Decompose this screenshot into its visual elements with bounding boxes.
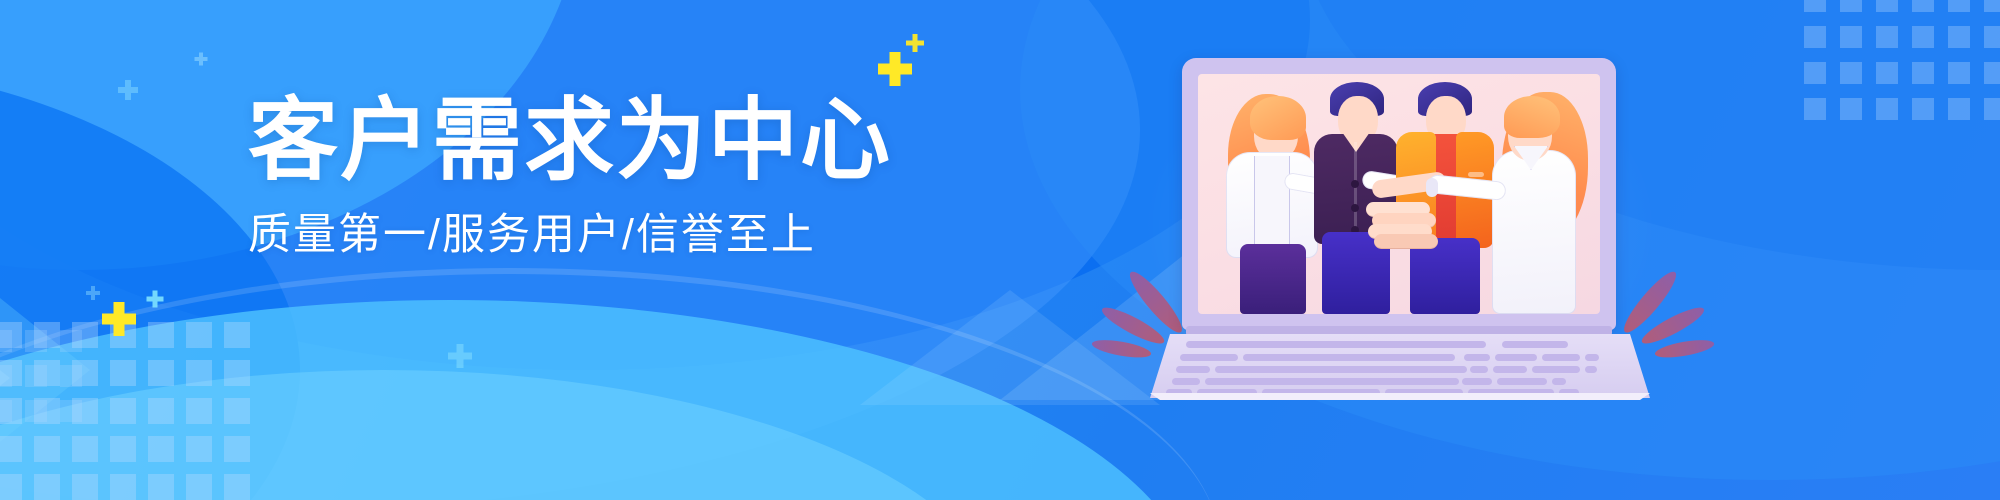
plus-sparkle-icon [146,290,163,307]
white-dress [1492,150,1576,314]
plus-sparkle-icon [86,286,100,300]
stacked-hands [1366,202,1444,246]
shirt-button [1351,180,1359,188]
plus-sparkle-icon [878,52,912,86]
purple-pants [1240,244,1306,314]
plus-sparkle-icon [906,34,924,52]
banner-subheadline: 质量第一/服务用户/信誉至上 [248,212,868,259]
leaf-icon [1654,337,1716,361]
background-wave-cyan-bottom [0,300,1200,500]
hair-front [1504,96,1560,138]
banner-headline: 客户需求为中心 [248,96,868,186]
inner-shirt [1254,156,1290,248]
background-wave-highlight-line [0,268,1220,500]
plus-sparkle-icon [194,52,207,65]
plus-sparkle-icon [102,302,136,336]
promo-banner: 客户需求为中心 质量第一/服务用户/信誉至上 [0,0,2000,500]
dot-grid-top-right [1804,0,2000,120]
background-wave-cyan-bottom-inner [0,370,1010,500]
shirt-button [1351,204,1359,212]
person-woman-right [1484,84,1588,314]
banner-copy: 客户需求为中心 质量第一/服务用户/信誉至上 [248,96,868,259]
chevron-arrow-icon [0,250,90,490]
laptop-keyboard [1150,334,1650,398]
hair-front [1250,96,1306,140]
laptop-screen [1198,74,1600,314]
laptop-base-edge [1150,393,1650,400]
sleeve-cuff [1426,178,1438,197]
dot-grid-bottom-left [0,322,250,500]
plus-sparkle-icon [448,344,472,368]
laptop-base [1150,326,1650,400]
person-woman-left [1224,86,1322,314]
dot-grid-left-middle [0,330,82,422]
chevron-arrow-icon [0,268,10,488]
laptop-screen-bezel [1182,58,1616,330]
hand [1374,234,1438,249]
plus-sparkle-icon [118,80,138,100]
teamwork-laptop-illustration [1150,58,1650,398]
leaf-icon [1091,337,1153,361]
blazer-chest-pocket [1468,172,1484,177]
blue-pants [1410,238,1480,314]
